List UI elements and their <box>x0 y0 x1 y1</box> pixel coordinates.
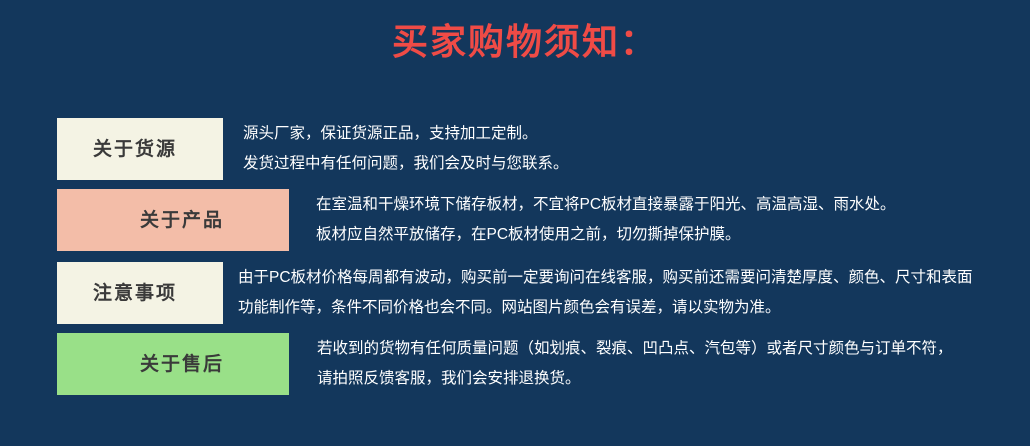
section-badge-aftersales: 关于售后 <box>57 333 289 395</box>
page-title: 买家购物须知： <box>0 18 1030 66</box>
body-line: 请拍照反馈客服，我们会安排退换货。 <box>317 364 953 394</box>
body-line: 由于PC板材价格每周都有波动，购买前一定要询问在线客服，购买前还需要问清楚厚度、… <box>238 263 973 293</box>
body-line: 发货过程中有任何问题，我们会及时与您联系。 <box>243 149 569 179</box>
section-badge-source: 关于货源 <box>57 118 223 180</box>
body-line: 板材应自然平放储存，在PC板材使用之前，切勿撕掉保护膜。 <box>316 220 896 250</box>
section-badge-attention: 注意事项 <box>57 262 223 324</box>
section-badge-label: 关于产品 <box>140 211 224 230</box>
notice-section-aftersales: 关于售后 若收到的货物有任何质量问题（如划痕、裂痕、凹凸点、汽包等）或者尺寸颜色… <box>0 333 1030 395</box>
section-badge-product: 关于产品 <box>57 189 289 251</box>
notice-section-product: 关于产品 在室温和干燥环境下储存板材，不宜将PC板材直接暴露于阳光、高温高湿、雨… <box>0 189 1030 251</box>
body-line: 在室温和干燥环境下储存板材，不宜将PC板材直接暴露于阳光、高温高湿、雨水处。 <box>316 190 896 220</box>
shopping-notice-banner: 买家购物须知： 关于货源 源头厂家，保证货源正品，支持加工定制。 发货过程中有任… <box>0 0 1030 446</box>
page-title-text: 买家购物须知： <box>392 18 658 66</box>
body-line: 源头厂家，保证货源正品，支持加工定制。 <box>243 119 569 149</box>
section-badge-label: 关于售后 <box>140 355 224 374</box>
body-line: 功能制作等，条件不同价格也会不同。网站图片颜色会有误差，请以实物为准。 <box>238 293 973 323</box>
notice-section-attention: 注意事项 由于PC板材价格每周都有波动，购买前一定要询问在线客服，购买前还需要问… <box>0 262 1030 324</box>
body-line: 若收到的货物有任何质量问题（如划痕、裂痕、凹凸点、汽包等）或者尺寸颜色与订单不符… <box>317 334 953 364</box>
section-body-aftersales: 若收到的货物有任何质量问题（如划痕、裂痕、凹凸点、汽包等）或者尺寸颜色与订单不符… <box>317 334 953 394</box>
section-badge-label: 注意事项 <box>93 284 177 303</box>
section-body-attention: 由于PC板材价格每周都有波动，购买前一定要询问在线客服，购买前还需要问清楚厚度、… <box>238 263 973 323</box>
section-badge-label: 关于货源 <box>93 140 177 159</box>
section-body-product: 在室温和干燥环境下储存板材，不宜将PC板材直接暴露于阳光、高温高湿、雨水处。 板… <box>316 190 896 250</box>
notice-section-source: 关于货源 源头厂家，保证货源正品，支持加工定制。 发货过程中有任何问题，我们会及… <box>0 118 1030 180</box>
section-body-source: 源头厂家，保证货源正品，支持加工定制。 发货过程中有任何问题，我们会及时与您联系… <box>243 119 569 179</box>
